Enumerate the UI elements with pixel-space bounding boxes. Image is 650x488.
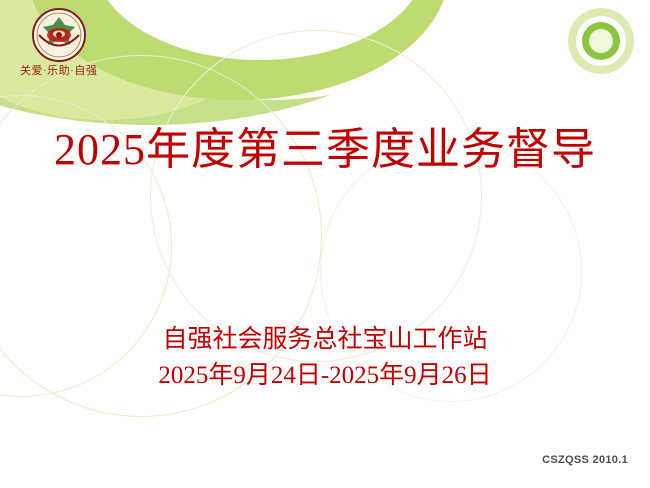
- subtitle-date-range: 2025年9月24日-2025年9月26日: [0, 358, 650, 394]
- green-ring-core: [589, 29, 613, 53]
- logo-tagline: 关爱·乐助·自强: [20, 62, 100, 78]
- presentation-slide: 关爱·乐助·自强 2025年度第三季度业务督导 自强社会服务总社宝山工作站 20…: [0, 0, 650, 488]
- subtitle-block: 自强社会服务总社宝山工作站 2025年9月24日-2025年9月26日: [0, 322, 650, 395]
- logo-emblem-icon: [32, 8, 86, 62]
- page-title: 2025年度第三季度业务督导: [0, 125, 650, 176]
- organization-logo: 关爱·乐助·自强: [20, 8, 140, 78]
- footer-code: CSZQSS 2010.1: [542, 454, 628, 466]
- subtitle-organization: 自强社会服务总社宝山工作站: [0, 322, 650, 358]
